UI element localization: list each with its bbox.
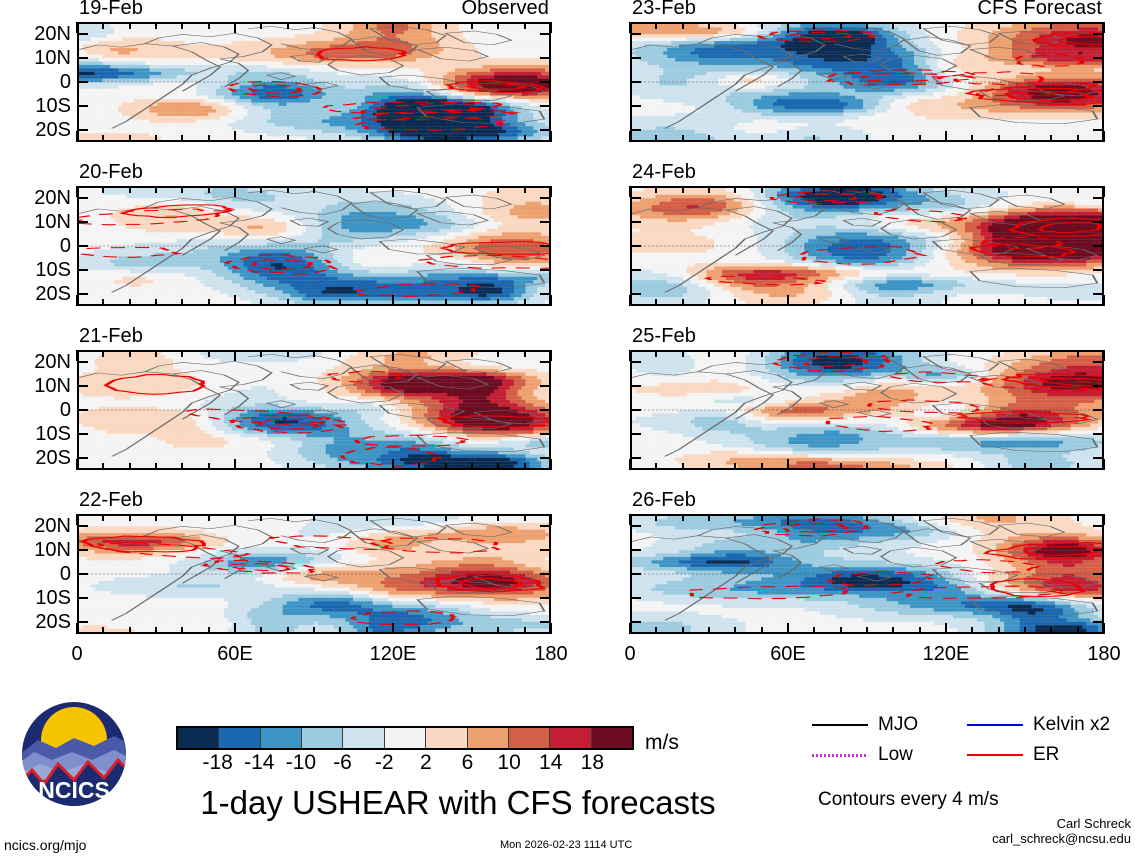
axis-tick-minor bbox=[919, 22, 921, 29]
axis-tick-minor bbox=[208, 299, 210, 306]
axis-tick-minor bbox=[761, 186, 763, 193]
axis-tick bbox=[630, 621, 641, 623]
axis-tick-minor bbox=[1050, 299, 1052, 306]
axis-tick-minor bbox=[655, 135, 657, 142]
axis-tick-minor bbox=[892, 627, 894, 634]
axis-tick bbox=[629, 295, 631, 306]
axis-tick-minor bbox=[919, 186, 921, 193]
axis-tick-minor bbox=[155, 299, 157, 306]
map-panel-23-feb: 23-FebCFS Forecast bbox=[630, 22, 1104, 142]
axis-tick-minor bbox=[313, 22, 315, 29]
axis-tick bbox=[234, 295, 236, 306]
axis-tick-minor bbox=[102, 463, 104, 470]
y-axis-tick-label: 20S bbox=[35, 120, 71, 140]
axis-tick-minor bbox=[445, 350, 447, 357]
axis-tick bbox=[630, 57, 641, 59]
axis-tick-minor bbox=[840, 135, 842, 142]
colorbar-tick-label: 2 bbox=[420, 752, 432, 773]
axis-tick bbox=[630, 245, 641, 247]
x-axis-tick-label: 120E bbox=[923, 644, 970, 664]
axis-tick-minor bbox=[471, 186, 473, 193]
axis-tick-minor bbox=[892, 22, 894, 29]
colorbar-swatch bbox=[509, 728, 550, 748]
author-email[interactable]: carl_schreck@ncsu.edu bbox=[992, 831, 1131, 846]
axis-tick-minor bbox=[471, 463, 473, 470]
y-axis-tick-label: 10S bbox=[35, 260, 71, 280]
axis-tick bbox=[630, 525, 641, 527]
axis-tick-minor bbox=[1024, 135, 1026, 142]
axis-tick-minor bbox=[287, 627, 289, 634]
axis-tick-minor bbox=[813, 22, 815, 29]
axis-tick-minor bbox=[892, 135, 894, 142]
axis-tick-minor bbox=[708, 463, 710, 470]
axis-tick bbox=[540, 597, 551, 599]
axis-tick-minor bbox=[366, 514, 368, 521]
axis-tick-minor bbox=[892, 186, 894, 193]
axis-tick bbox=[945, 514, 947, 525]
axis-tick-minor bbox=[1050, 514, 1052, 521]
axis-tick bbox=[1103, 623, 1105, 634]
axis-tick-minor bbox=[1050, 22, 1052, 29]
axis-tick-minor bbox=[734, 514, 736, 521]
axis-tick-minor bbox=[524, 627, 526, 634]
axis-tick-minor bbox=[287, 186, 289, 193]
axis-tick bbox=[629, 459, 631, 470]
axis-tick-minor bbox=[1024, 463, 1026, 470]
axis-tick bbox=[945, 186, 947, 197]
x-axis-tick-label: 180 bbox=[1087, 644, 1120, 664]
axis-tick-minor bbox=[919, 627, 921, 634]
axis-tick bbox=[540, 385, 551, 387]
axis-tick bbox=[630, 269, 641, 271]
axis-tick-minor bbox=[339, 463, 341, 470]
axis-tick-minor bbox=[445, 627, 447, 634]
axis-tick-minor bbox=[998, 350, 1000, 357]
axis-tick-minor bbox=[813, 627, 815, 634]
footer-website[interactable]: ncics.org/mjo bbox=[4, 838, 86, 852]
axis-tick-minor bbox=[734, 463, 736, 470]
axis-tick-minor bbox=[998, 299, 1000, 306]
axis-tick bbox=[630, 409, 641, 411]
axis-tick-minor bbox=[866, 514, 868, 521]
axis-tick bbox=[234, 623, 236, 634]
axis-tick-minor bbox=[418, 22, 420, 29]
x-axis-tick-label: 120E bbox=[370, 644, 417, 664]
legend-label: MJO bbox=[878, 714, 918, 736]
axis-tick-minor bbox=[339, 299, 341, 306]
axis-tick-minor bbox=[181, 514, 183, 521]
axis-tick bbox=[1093, 621, 1104, 623]
axis-tick-minor bbox=[1050, 463, 1052, 470]
axis-tick-minor bbox=[155, 627, 157, 634]
panel-date-label: 25-Feb bbox=[632, 326, 696, 346]
axis-tick bbox=[77, 433, 88, 435]
axis-tick bbox=[234, 22, 236, 33]
axis-tick bbox=[77, 409, 88, 411]
axis-tick bbox=[77, 81, 88, 83]
y-axis-tick-label: 20N bbox=[34, 516, 71, 536]
axis-tick-minor bbox=[366, 186, 368, 193]
axis-tick bbox=[77, 621, 88, 623]
axis-tick-minor bbox=[181, 22, 183, 29]
axis-tick-minor bbox=[734, 627, 736, 634]
axis-tick bbox=[77, 573, 88, 575]
axis-tick bbox=[1093, 409, 1104, 411]
y-axis-tick-label: 20S bbox=[35, 284, 71, 304]
axis-tick-minor bbox=[761, 514, 763, 521]
y-axis-tick-label: 0 bbox=[60, 72, 71, 92]
colorbar-unit-label: m/s bbox=[645, 732, 679, 753]
axis-tick-minor bbox=[471, 22, 473, 29]
legend-line-swatch bbox=[812, 754, 868, 757]
axis-tick-minor bbox=[734, 186, 736, 193]
axis-tick bbox=[630, 457, 641, 459]
axis-tick bbox=[1093, 597, 1104, 599]
axis-tick-minor bbox=[840, 514, 842, 521]
axis-tick bbox=[540, 409, 551, 411]
axis-tick-minor bbox=[840, 627, 842, 634]
axis-tick bbox=[392, 514, 394, 525]
shear-map bbox=[77, 514, 551, 634]
axis-tick-minor bbox=[655, 627, 657, 634]
axis-tick-minor bbox=[497, 22, 499, 29]
axis-tick-minor bbox=[655, 299, 657, 306]
y-axis-tick-label: 10N bbox=[34, 540, 71, 560]
axis-tick-minor bbox=[682, 627, 684, 634]
y-axis-tick-label: 10S bbox=[35, 588, 71, 608]
axis-tick-minor bbox=[339, 135, 341, 142]
axis-tick bbox=[76, 22, 78, 33]
axis-tick-minor bbox=[892, 350, 894, 357]
axis-tick-minor bbox=[260, 299, 262, 306]
axis-tick bbox=[630, 33, 641, 35]
axis-tick bbox=[1093, 197, 1104, 199]
axis-tick-minor bbox=[761, 22, 763, 29]
axis-tick-minor bbox=[524, 299, 526, 306]
x-axis-tick-label: 180 bbox=[534, 644, 567, 664]
axis-tick-minor bbox=[129, 627, 131, 634]
axis-tick-minor bbox=[155, 135, 157, 142]
axis-tick-minor bbox=[708, 514, 710, 521]
axis-tick bbox=[630, 385, 641, 387]
axis-tick bbox=[945, 623, 947, 634]
axis-tick-minor bbox=[418, 135, 420, 142]
colorbar-tick-label: 14 bbox=[539, 752, 562, 773]
axis-tick-minor bbox=[682, 299, 684, 306]
axis-tick-minor bbox=[155, 350, 157, 357]
axis-tick-minor bbox=[998, 463, 1000, 470]
axis-tick bbox=[540, 221, 551, 223]
axis-tick bbox=[540, 525, 551, 527]
axis-tick bbox=[76, 623, 78, 634]
axis-tick-minor bbox=[497, 463, 499, 470]
legend: MJOLowKelvin x2ER bbox=[812, 714, 1112, 776]
axis-tick-minor bbox=[339, 350, 341, 357]
axis-tick bbox=[550, 350, 552, 361]
axis-tick-minor bbox=[813, 135, 815, 142]
axis-tick bbox=[1093, 81, 1104, 83]
axis-tick-minor bbox=[1077, 186, 1079, 193]
axis-tick-minor bbox=[155, 186, 157, 193]
axis-tick-minor bbox=[181, 186, 183, 193]
axis-tick bbox=[630, 293, 641, 295]
axis-tick-minor bbox=[102, 135, 104, 142]
axis-tick bbox=[76, 295, 78, 306]
axis-tick-minor bbox=[892, 514, 894, 521]
axis-tick-minor bbox=[1077, 299, 1079, 306]
axis-tick-minor bbox=[866, 627, 868, 634]
axis-tick bbox=[540, 33, 551, 35]
axis-tick bbox=[77, 221, 88, 223]
axis-tick bbox=[1093, 361, 1104, 363]
axis-tick-minor bbox=[102, 514, 104, 521]
axis-tick-minor bbox=[445, 463, 447, 470]
axis-tick-minor bbox=[971, 627, 973, 634]
axis-tick bbox=[550, 295, 552, 306]
axis-tick-minor bbox=[655, 186, 657, 193]
axis-tick bbox=[76, 131, 78, 142]
y-axis-tick-label: 10S bbox=[35, 424, 71, 444]
axis-tick-minor bbox=[366, 299, 368, 306]
axis-tick bbox=[234, 131, 236, 142]
axis-tick bbox=[1093, 525, 1104, 527]
map-panel-26-feb: 26-Feb060E120E180 bbox=[630, 514, 1104, 634]
axis-tick-minor bbox=[313, 186, 315, 193]
axis-tick bbox=[77, 525, 88, 527]
axis-tick-minor bbox=[181, 299, 183, 306]
colorbar-tick-label: -18 bbox=[202, 752, 232, 773]
colorbar-swatch bbox=[302, 728, 343, 748]
axis-tick bbox=[1103, 350, 1105, 361]
axis-tick-minor bbox=[813, 186, 815, 193]
axis-tick-minor bbox=[497, 135, 499, 142]
axis-tick-minor bbox=[102, 299, 104, 306]
axis-tick bbox=[787, 623, 789, 634]
axis-tick-minor bbox=[734, 22, 736, 29]
axis-tick bbox=[550, 459, 552, 470]
axis-tick-minor bbox=[418, 186, 420, 193]
axis-tick bbox=[629, 22, 631, 33]
colorbar-swatch bbox=[592, 728, 632, 748]
axis-tick bbox=[629, 623, 631, 634]
axis-tick-minor bbox=[339, 186, 341, 193]
axis-tick-minor bbox=[102, 22, 104, 29]
axis-tick-minor bbox=[866, 350, 868, 357]
axis-tick bbox=[550, 186, 552, 197]
shear-map bbox=[77, 186, 551, 306]
colorbar-tick-label: -2 bbox=[375, 752, 394, 773]
axis-tick-minor bbox=[708, 627, 710, 634]
axis-tick bbox=[630, 105, 641, 107]
axis-tick-minor bbox=[524, 135, 526, 142]
panel-date-label: 22-Feb bbox=[79, 490, 143, 510]
axis-tick-minor bbox=[919, 350, 921, 357]
axis-tick bbox=[1093, 105, 1104, 107]
axis-tick bbox=[630, 549, 641, 551]
axis-tick-minor bbox=[761, 627, 763, 634]
map-panel-21-feb: 21-Feb20N10N010S20S bbox=[77, 350, 551, 470]
axis-tick-minor bbox=[129, 22, 131, 29]
axis-tick-minor bbox=[129, 299, 131, 306]
axis-tick-minor bbox=[840, 299, 842, 306]
map-panel-20-feb: 20-Feb20N10N010S20S bbox=[77, 186, 551, 306]
x-axis-tick-label: 60E bbox=[770, 644, 806, 664]
y-axis-tick-label: 0 bbox=[60, 400, 71, 420]
axis-tick bbox=[77, 33, 88, 35]
panel-date-label: 20-Feb bbox=[79, 162, 143, 182]
axis-tick bbox=[540, 573, 551, 575]
axis-tick-minor bbox=[524, 463, 526, 470]
axis-tick bbox=[550, 623, 552, 634]
axis-tick-minor bbox=[418, 514, 420, 521]
shear-map bbox=[630, 514, 1104, 634]
axis-tick-minor bbox=[655, 350, 657, 357]
axis-tick bbox=[392, 295, 394, 306]
axis-tick-minor bbox=[418, 299, 420, 306]
axis-tick-minor bbox=[1024, 22, 1026, 29]
legend-label: Low bbox=[878, 744, 913, 766]
panel-grid: 19-FebObserved20N10N010S20S20-Feb20N10N0… bbox=[0, 0, 1135, 690]
axis-tick-minor bbox=[155, 463, 157, 470]
axis-tick-minor bbox=[524, 514, 526, 521]
axis-tick-minor bbox=[840, 463, 842, 470]
y-axis-tick-label: 20N bbox=[34, 188, 71, 208]
colorbar-tick-label: 10 bbox=[497, 752, 520, 773]
axis-tick-minor bbox=[471, 514, 473, 521]
axis-tick bbox=[76, 350, 78, 361]
axis-tick bbox=[1093, 385, 1104, 387]
axis-tick bbox=[630, 129, 641, 131]
y-axis-tick-label: 10N bbox=[34, 48, 71, 68]
axis-tick-minor bbox=[366, 135, 368, 142]
axis-tick-minor bbox=[655, 22, 657, 29]
axis-tick bbox=[1093, 129, 1104, 131]
axis-tick-minor bbox=[1024, 299, 1026, 306]
colorbar-tick-label: -10 bbox=[286, 752, 316, 773]
axis-tick-minor bbox=[129, 350, 131, 357]
axis-tick bbox=[234, 514, 236, 525]
map-panel-24-feb: 24-Feb bbox=[630, 186, 1104, 306]
axis-tick bbox=[1103, 514, 1105, 525]
axis-tick-minor bbox=[813, 299, 815, 306]
axis-tick-minor bbox=[418, 463, 420, 470]
axis-tick-minor bbox=[102, 350, 104, 357]
axis-tick bbox=[630, 361, 641, 363]
axis-tick-minor bbox=[181, 627, 183, 634]
axis-tick-minor bbox=[339, 514, 341, 521]
axis-tick bbox=[787, 186, 789, 197]
axis-tick-minor bbox=[1050, 135, 1052, 142]
axis-tick bbox=[392, 186, 394, 197]
axis-tick-minor bbox=[497, 299, 499, 306]
panel-date-label: 26-Feb bbox=[632, 490, 696, 510]
axis-tick bbox=[630, 433, 641, 435]
axis-tick-minor bbox=[708, 135, 710, 142]
axis-tick-minor bbox=[892, 299, 894, 306]
axis-tick bbox=[1093, 221, 1104, 223]
x-axis-tick-label: 60E bbox=[217, 644, 253, 664]
axis-tick-minor bbox=[682, 463, 684, 470]
axis-tick-minor bbox=[260, 186, 262, 193]
axis-tick bbox=[77, 245, 88, 247]
colorbar-tick-label: -6 bbox=[333, 752, 352, 773]
axis-tick-minor bbox=[471, 627, 473, 634]
axis-tick-minor bbox=[708, 299, 710, 306]
axis-tick-minor bbox=[313, 627, 315, 634]
axis-tick-minor bbox=[971, 135, 973, 142]
axis-tick bbox=[945, 295, 947, 306]
axis-tick-minor bbox=[418, 627, 420, 634]
map-panel-19-feb: 19-FebObserved20N10N010S20S bbox=[77, 22, 551, 142]
axis-tick-minor bbox=[155, 514, 157, 521]
axis-tick-minor bbox=[524, 186, 526, 193]
axis-tick-minor bbox=[866, 186, 868, 193]
axis-tick-minor bbox=[524, 350, 526, 357]
axis-tick bbox=[1093, 457, 1104, 459]
axis-tick bbox=[77, 57, 88, 59]
y-axis-tick-label: 0 bbox=[60, 564, 71, 584]
axis-tick-minor bbox=[1077, 135, 1079, 142]
colorbar-swatch bbox=[468, 728, 509, 748]
axis-tick-minor bbox=[682, 350, 684, 357]
x-axis-tick-label: 0 bbox=[624, 644, 635, 664]
colorbar-swatch bbox=[261, 728, 302, 748]
axis-tick bbox=[945, 459, 947, 470]
ncics-logo: NCICS bbox=[18, 700, 136, 808]
axis-tick bbox=[77, 269, 88, 271]
colorbar-swatch bbox=[178, 728, 219, 748]
axis-tick bbox=[630, 597, 641, 599]
axis-tick-minor bbox=[102, 186, 104, 193]
axis-tick bbox=[77, 361, 88, 363]
axis-tick bbox=[787, 131, 789, 142]
colorbar-tick-label: 6 bbox=[462, 752, 474, 773]
axis-tick bbox=[77, 105, 88, 107]
axis-tick bbox=[1093, 573, 1104, 575]
axis-tick-minor bbox=[682, 22, 684, 29]
axis-tick-minor bbox=[260, 135, 262, 142]
axis-tick-minor bbox=[866, 299, 868, 306]
axis-tick-minor bbox=[734, 299, 736, 306]
axis-tick-minor bbox=[287, 135, 289, 142]
legend-line-swatch bbox=[967, 724, 1023, 726]
axis-tick bbox=[77, 597, 88, 599]
axis-tick-minor bbox=[971, 299, 973, 306]
axis-tick bbox=[77, 293, 88, 295]
axis-tick bbox=[629, 131, 631, 142]
axis-tick-minor bbox=[313, 514, 315, 521]
y-axis-tick-label: 20N bbox=[34, 352, 71, 372]
axis-tick-minor bbox=[313, 350, 315, 357]
axis-tick-minor bbox=[260, 463, 262, 470]
axis-tick bbox=[77, 129, 88, 131]
column-header: Observed bbox=[461, 0, 549, 18]
colorbar-swatch bbox=[343, 728, 384, 748]
axis-tick-minor bbox=[655, 463, 657, 470]
axis-tick bbox=[540, 361, 551, 363]
shear-map bbox=[630, 350, 1104, 470]
axis-tick bbox=[540, 269, 551, 271]
shear-map bbox=[77, 350, 551, 470]
axis-tick-minor bbox=[366, 22, 368, 29]
axis-tick-minor bbox=[840, 186, 842, 193]
axis-tick-minor bbox=[181, 350, 183, 357]
shear-map bbox=[630, 22, 1104, 142]
axis-tick bbox=[945, 350, 947, 361]
axis-tick-minor bbox=[155, 22, 157, 29]
axis-tick-minor bbox=[313, 463, 315, 470]
legend-line-swatch bbox=[967, 754, 1023, 756]
